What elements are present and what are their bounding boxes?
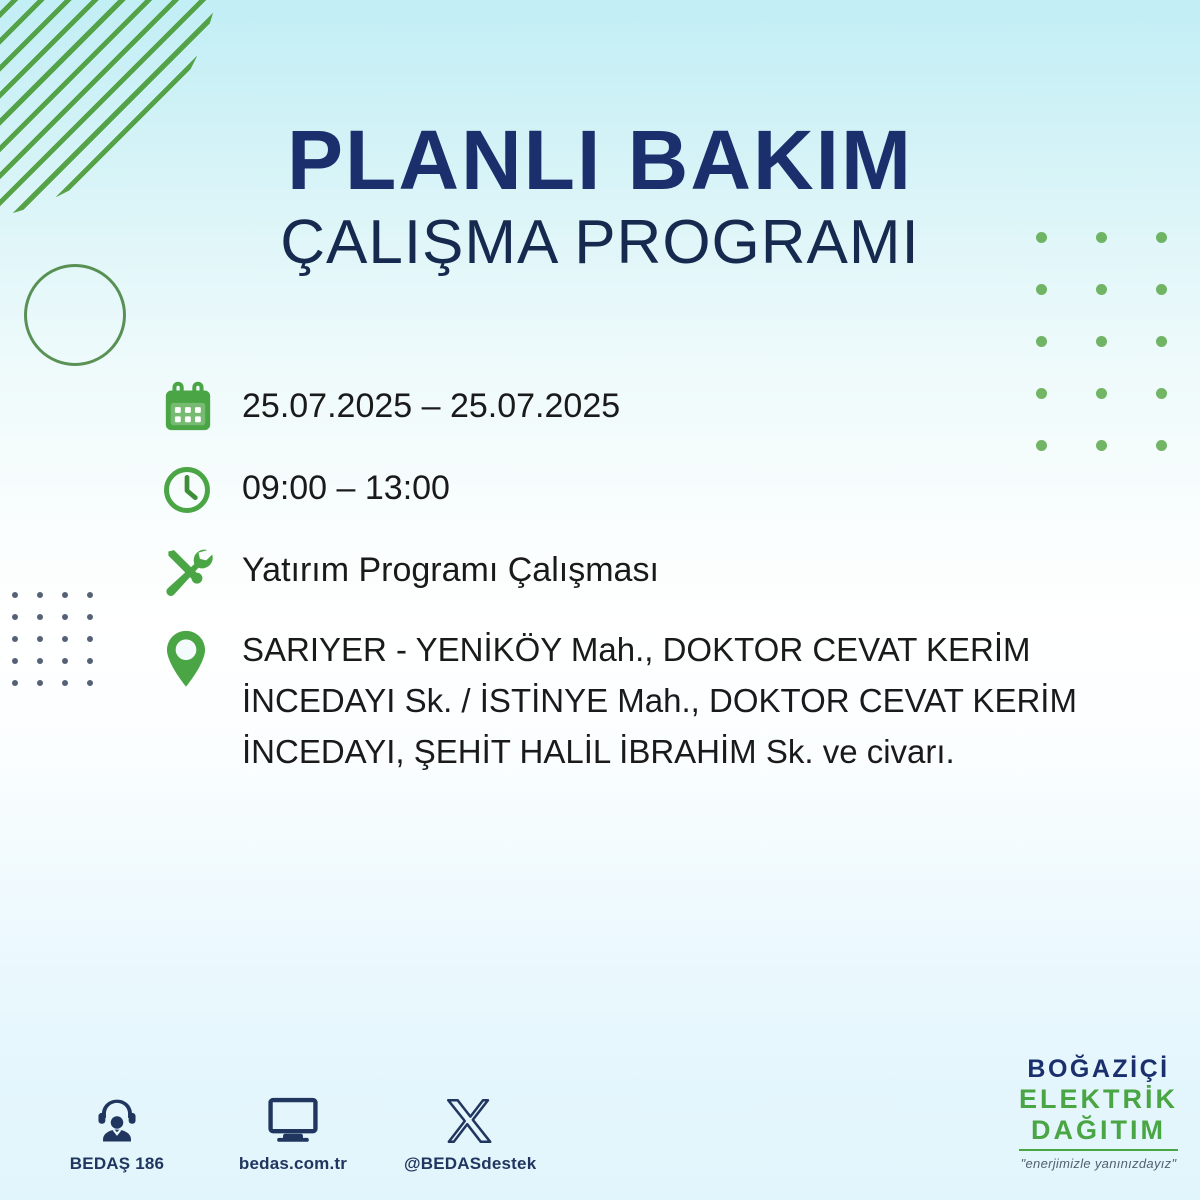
contact-website[interactable]: bedas.com.tr	[228, 1087, 358, 1174]
x-twitter-icon	[404, 1087, 534, 1145]
brand-line-bogazici: BOĞAZİÇİ	[1019, 1057, 1178, 1082]
detail-row-address: SARIYER - YENİKÖY Mah., DOKTOR CEVAT KER…	[160, 624, 1170, 777]
poster-footer: BEDAŞ 186 bedas.com.tr	[0, 1048, 1200, 1178]
page-title: PLANLI BAKIM	[0, 118, 1200, 202]
detail-row-date: 25.07.2025 – 25.07.2025	[160, 378, 1170, 438]
brand-line-elektrik: ELEKTRİK	[1019, 1086, 1178, 1113]
headset-support-icon	[52, 1087, 182, 1145]
monitor-icon	[228, 1087, 358, 1145]
bedas-logo: BOĞAZİÇİ ELEKTRİK DAĞITIM "enerjimizle y…	[1019, 1057, 1178, 1170]
dot-grid-left-decoration	[12, 592, 112, 702]
location-pin-icon	[160, 624, 242, 696]
contact-channels: BEDAŞ 186 bedas.com.tr	[52, 1087, 534, 1174]
brand-line-dagitim: DAĞITIM	[1019, 1117, 1178, 1151]
calendar-icon	[160, 378, 242, 438]
contact-social-x[interactable]: @BEDASdestek	[404, 1087, 534, 1174]
tools-icon	[160, 542, 242, 602]
planned-maintenance-poster: PLANLI BAKIM ÇALIŞMA PROGRAMI	[0, 0, 1200, 1200]
maintenance-details: 25.07.2025 – 25.07.2025 09:00 – 13:00	[160, 378, 1170, 799]
contact-website-label: bedas.com.tr	[228, 1154, 358, 1174]
work-type-value: Yatırım Programı Çalışması	[242, 542, 659, 594]
address-value: SARIYER - YENİKÖY Mah., DOKTOR CEVAT KER…	[242, 624, 1170, 777]
page-subtitle: ÇALIŞMA PROGRAMI	[0, 210, 1200, 275]
circle-outline-decoration	[24, 264, 126, 366]
time-range-value: 09:00 – 13:00	[242, 460, 450, 512]
detail-row-work-type: Yatırım Programı Çalışması	[160, 542, 1170, 602]
detail-row-time: 09:00 – 13:00	[160, 460, 1170, 520]
brand-tagline: "enerjimizle yanınızdayız"	[1019, 1157, 1178, 1170]
clock-icon	[160, 460, 242, 520]
contact-phone[interactable]: BEDAŞ 186	[52, 1087, 182, 1174]
date-range-value: 25.07.2025 – 25.07.2025	[242, 378, 620, 430]
contact-phone-label: BEDAŞ 186	[52, 1154, 182, 1174]
poster-header: PLANLI BAKIM ÇALIŞMA PROGRAMI	[0, 118, 1200, 275]
contact-social-x-label: @BEDASdestek	[404, 1154, 534, 1174]
